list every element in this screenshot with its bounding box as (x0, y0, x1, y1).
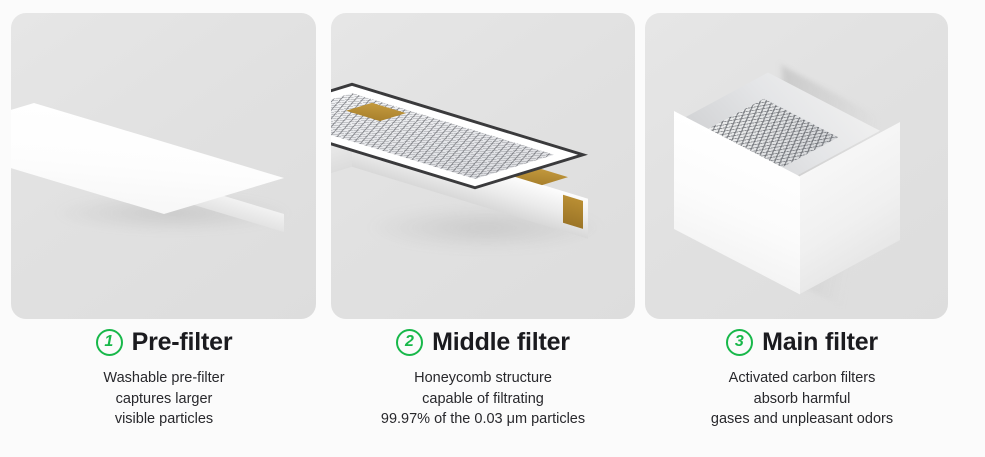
product-image-card-main-filter (645, 13, 948, 319)
panel-description-pre-filter: Washable pre-filter captures larger visi… (0, 368, 328, 430)
title-row-main-filter: 3 Main filter (638, 325, 966, 359)
panel-description-middle-filter: Honeycomb structure capable of filtratin… (319, 368, 647, 430)
title-row-middle-filter: 2 Middle filter (319, 325, 647, 359)
step-number-badge-2: 2 (396, 329, 423, 356)
panel-title-middle-filter: Middle filter (432, 328, 570, 357)
step-number-badge-1: 1 (96, 329, 123, 356)
caption-middle-filter: 2 Middle filter Honeycomb structure capa… (319, 325, 647, 430)
title-row-pre-filter: 1 Pre-filter (0, 325, 328, 359)
filter-stage-panel-main-filter[interactable]: 3 Main filter Activated carbon filters a… (638, 0, 966, 457)
product-image-card-pre-filter (11, 13, 316, 319)
middle-filter-honeycomb-tray-3d-icon (331, 13, 635, 319)
caption-main-filter: 3 Main filter Activated carbon filters a… (638, 325, 966, 430)
step-number-badge-3: 3 (726, 329, 753, 356)
pre-filter-slab-3d-icon (11, 13, 316, 319)
caption-pre-filter: 1 Pre-filter Washable pre-filter capture… (0, 325, 328, 430)
product-image-card-middle-filter (331, 13, 635, 319)
main-filter-carbon-box-3d-icon (645, 13, 948, 319)
panel-title-main-filter: Main filter (762, 328, 878, 357)
panel-title-pre-filter: Pre-filter (132, 328, 233, 357)
tray-tab-right-side (563, 195, 583, 229)
filter-stage-panel-middle-filter[interactable]: 2 Middle filter Honeycomb structure capa… (319, 0, 647, 457)
panel-description-main-filter: Activated carbon filters absorb harmful … (638, 368, 966, 430)
filter-stages-board: 1 Pre-filter Washable pre-filter capture… (0, 0, 985, 457)
filter-stage-panel-pre-filter[interactable]: 1 Pre-filter Washable pre-filter capture… (0, 0, 328, 457)
